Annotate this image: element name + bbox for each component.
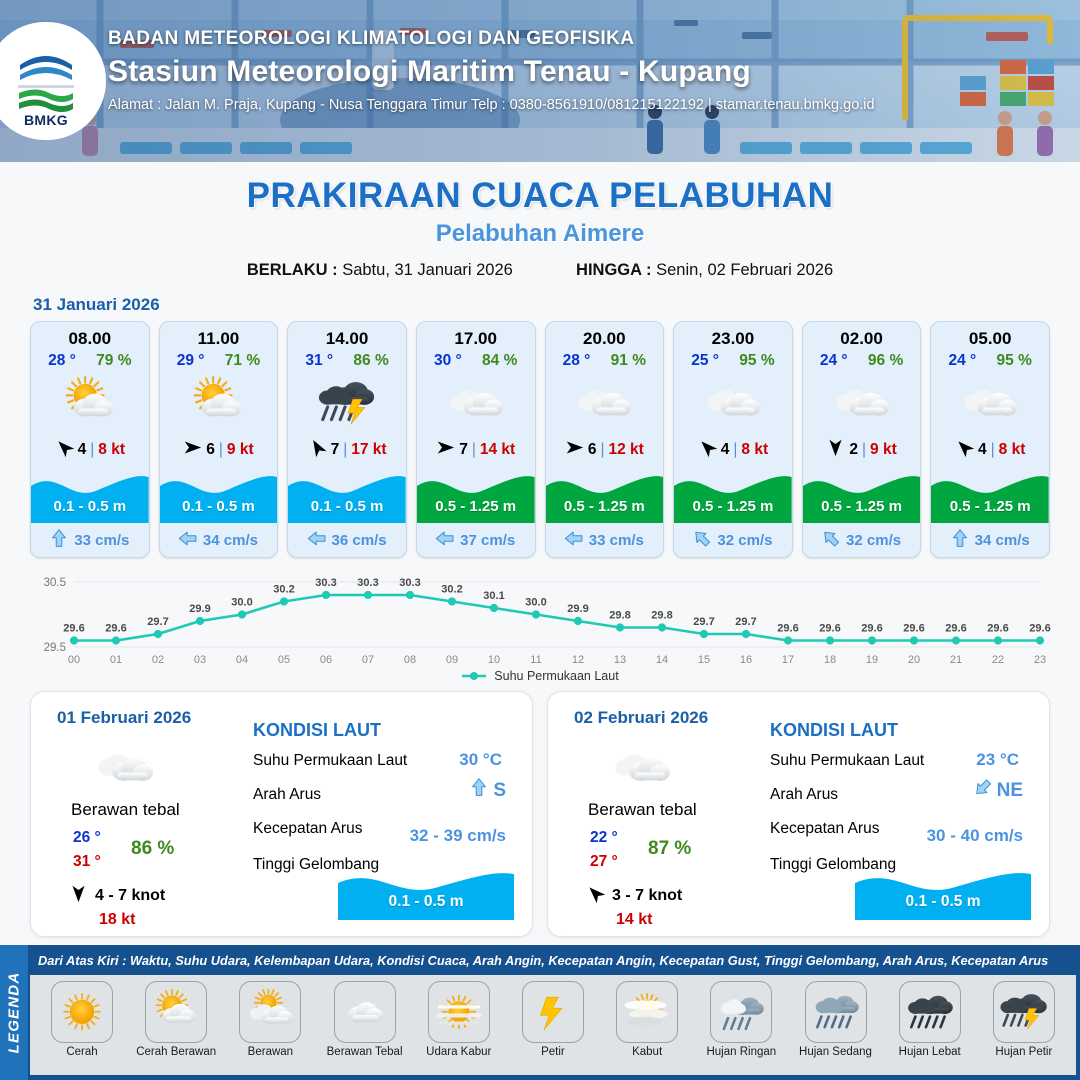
card-wave: 0.5 - 1.25 m — [674, 467, 792, 523]
valid-until-value: Senin, 02 Februari 2026 — [656, 261, 833, 279]
card-temperature: 28 ° — [563, 352, 591, 370]
card-wind-speed: 2 — [849, 441, 858, 459]
card-temp-humidity: 25 ° 95 % — [674, 351, 792, 370]
daily-date: 01 Februari 2026 — [57, 708, 191, 728]
sea-conditions-title: KONDISI LAUT — [770, 720, 898, 741]
daily-gust: 14 kt — [616, 911, 652, 929]
svg-text:29.6: 29.6 — [945, 623, 966, 635]
card-wave: 0.5 - 1.25 m — [803, 467, 921, 523]
cloudy-icon — [546, 372, 664, 434]
card-wind-speed: 4 — [721, 441, 730, 459]
cloudy-icon — [674, 372, 792, 434]
daily-wave-height: 0.1 - 0.5 m — [338, 893, 514, 911]
card-current-speed: 36 cm/s — [332, 532, 387, 549]
chart-series-label: Suhu Permukaan Laut — [494, 669, 618, 683]
current-direction-arrow-icon — [951, 529, 969, 552]
page-header: BMKG BADAN METEOROLOGI KLIMATOLOGI DAN G… — [0, 0, 1080, 162]
card-temperature: 31 ° — [305, 352, 333, 370]
legend-item: Udara Kabur — [413, 981, 505, 1058]
card-temperature: 29 ° — [177, 352, 205, 370]
sea-row-label-sst: Suhu Permukaan Laut — [770, 752, 924, 770]
svg-text:16: 16 — [740, 654, 752, 666]
card-wind-speed: 6 — [588, 441, 597, 459]
cloudy-icon — [417, 372, 535, 434]
daily-humidity: 86 % — [131, 838, 174, 860]
daily-condition: Berawan tebal — [71, 800, 180, 820]
card-wind-speed: 4 — [978, 441, 987, 459]
card-wave-height: 0.5 - 1.25 m — [417, 498, 535, 515]
svg-text:12: 12 — [572, 654, 584, 666]
card-current-speed: 34 cm/s — [203, 532, 258, 549]
svg-text:30.2: 30.2 — [273, 584, 294, 596]
cloudy-icon — [931, 372, 1049, 434]
svg-text:30.3: 30.3 — [399, 577, 420, 589]
card-current-speed: 32 cm/s — [717, 532, 772, 549]
svg-text:00: 00 — [68, 654, 80, 666]
card-wave-height: 0.5 - 1.25 m — [674, 498, 792, 515]
page-subtitle: Pelabuhan Aimere — [0, 220, 1080, 248]
daily-wave: 0.1 - 0.5 m — [338, 864, 514, 920]
card-temperature: 25 ° — [691, 352, 719, 370]
card-temp-humidity: 31 ° 86 % — [288, 351, 406, 370]
wind-direction-arrow-icon — [586, 884, 605, 908]
hourly-card: 05.00 24 ° 95 % — [930, 321, 1050, 558]
legend-item-label: Hujan Petir — [978, 1046, 1070, 1058]
svg-text:22: 22 — [992, 654, 1004, 666]
card-temperature: 24 ° — [949, 352, 977, 370]
sea-surface-temperature: 30 °C — [459, 750, 502, 770]
legend-line-marker-icon — [461, 670, 487, 682]
sea-row-label-current-direction: Arah Arus — [770, 786, 838, 804]
sea-row-label-current-speed: Kecepatan Arus — [253, 820, 362, 838]
current-direction-arrow-icon — [974, 778, 992, 803]
legend-item-label: Hujan Sedang — [790, 1046, 882, 1058]
card-humidity: 91 % — [611, 352, 646, 370]
card-wind: 7 | 17 kt — [288, 434, 406, 466]
card-wind: 6 | 12 kt — [546, 434, 664, 466]
sea-surface-temperature: 23 °C — [976, 750, 1019, 770]
card-wind-speed: 6 — [206, 441, 215, 459]
svg-text:21: 21 — [950, 654, 962, 666]
wind-direction-arrow-icon — [826, 438, 845, 462]
svg-text:04: 04 — [236, 654, 248, 666]
legend-item: Hujan Sedang — [790, 981, 882, 1058]
wind-direction-arrow-icon — [308, 438, 327, 462]
daily-wave-height: 0.1 - 0.5 m — [855, 893, 1031, 911]
card-current-speed: 34 cm/s — [975, 532, 1030, 549]
svg-text:30.2: 30.2 — [441, 584, 462, 596]
current-direction-arrow-icon — [436, 529, 454, 552]
card-humidity: 79 % — [96, 352, 131, 370]
logo-text: BMKG — [10, 112, 82, 128]
card-wind: 6 | 9 kt — [160, 434, 278, 466]
card-wind: 4 | 8 kt — [931, 434, 1049, 466]
wind-direction-arrow-icon — [436, 438, 455, 462]
legend-items: Cerah Cerah Berawan — [30, 975, 1076, 1075]
card-humidity: 71 % — [225, 352, 260, 370]
card-humidity: 95 % — [997, 352, 1032, 370]
card-gust: 9 kt — [870, 441, 897, 459]
card-current-speed: 33 cm/s — [74, 532, 129, 549]
card-current: 33 cm/s — [546, 523, 664, 557]
sea-current-speed: 30 - 40 cm/s — [927, 826, 1023, 846]
daily-wind-range: 4 - 7 knot — [95, 887, 165, 905]
agency-name: BADAN METEOROLOGI KLIMATOLOGI DAN GEOFIS… — [108, 28, 875, 50]
svg-text:30.3: 30.3 — [315, 577, 336, 589]
card-time: 08.00 — [31, 322, 149, 351]
card-temp-humidity: 29 ° 71 % — [160, 351, 278, 370]
legend-item-label: Udara Kabur — [413, 1046, 505, 1058]
svg-text:18: 18 — [824, 654, 836, 666]
svg-text:06: 06 — [320, 654, 332, 666]
current-direction-label: S — [493, 780, 506, 802]
hourly-card: 14.00 31 ° 86 % — [287, 321, 407, 558]
card-time: 02.00 — [803, 322, 921, 351]
svg-text:29.8: 29.8 — [651, 610, 672, 622]
svg-text:17: 17 — [782, 654, 794, 666]
current-direction-arrow-icon — [308, 529, 326, 552]
legend-item: Hujan Lebat — [884, 981, 976, 1058]
sun-behind-cloud-icon — [160, 372, 278, 434]
card-wave-height: 0.5 - 1.25 m — [931, 498, 1049, 515]
sea-row-label-current-direction: Arah Arus — [253, 786, 321, 804]
card-wind-speed: 4 — [78, 441, 87, 459]
svg-text:29.9: 29.9 — [567, 603, 588, 615]
card-wind-separator: | — [219, 441, 223, 459]
legend-item-label: Hujan Lebat — [884, 1046, 976, 1058]
card-gust: 8 kt — [999, 441, 1026, 459]
sst-chart: 29.530.529.60029.60129.70229.90330.00430… — [0, 572, 1080, 683]
card-wave-height: 0.5 - 1.25 m — [803, 498, 921, 515]
card-time: 17.00 — [417, 322, 535, 351]
sea-current-direction: S — [470, 778, 506, 803]
svg-text:07: 07 — [362, 654, 374, 666]
sea-conditions-title: KONDISI LAUT — [253, 720, 381, 741]
sst-chart-plot: 29.530.529.60029.60129.70229.90330.00430… — [26, 572, 1054, 667]
clouds-icon — [334, 981, 396, 1043]
legend-item-label: Hujan Ringan — [695, 1046, 787, 1058]
card-temp-humidity: 24 ° 96 % — [803, 351, 921, 370]
daily-wind-range: 3 - 7 knot — [612, 887, 682, 905]
sea-row-label-current-speed: Kecepatan Arus — [770, 820, 879, 838]
card-wind-separator: | — [991, 441, 995, 459]
svg-text:30.0: 30.0 — [525, 597, 546, 609]
svg-text:03: 03 — [194, 654, 206, 666]
current-direction-label: NE — [997, 780, 1023, 802]
legend-item: Cerah Berawan — [130, 981, 222, 1058]
legend-item: Hujan Petir — [978, 981, 1070, 1058]
card-temp-humidity: 28 ° 91 % — [546, 351, 664, 370]
legend-item-label: Berawan Tebal — [319, 1046, 411, 1058]
daily-temp-min: 22 ° — [590, 829, 618, 847]
svg-text:01: 01 — [110, 654, 122, 666]
card-wave: 0.5 - 1.25 m — [931, 467, 1049, 523]
svg-text:30.1: 30.1 — [483, 590, 504, 602]
card-wave: 0.1 - 0.5 m — [160, 467, 278, 523]
current-direction-arrow-icon — [179, 529, 197, 552]
legend-note: Dari Atas Kiri : Waktu, Suhu Udara, Kele… — [38, 953, 1074, 968]
card-temperature: 24 ° — [820, 352, 848, 370]
svg-text:29.6: 29.6 — [819, 623, 840, 635]
daily-date: 02 Februari 2026 — [574, 708, 708, 728]
card-wind-separator: | — [600, 441, 604, 459]
legend-item: Petir — [507, 981, 599, 1058]
card-wind-separator: | — [90, 441, 94, 459]
legend-item: Berawan Tebal — [319, 981, 411, 1058]
card-wind-separator: | — [733, 441, 737, 459]
card-current: 33 cm/s — [31, 523, 149, 557]
card-wave: 0.5 - 1.25 m — [417, 467, 535, 523]
legend-item-label: Kabut — [601, 1046, 693, 1058]
card-gust: 9 kt — [227, 441, 254, 459]
hourly-card: 20.00 28 ° 91 % — [545, 321, 665, 558]
card-time: 14.00 — [288, 322, 406, 351]
svg-text:30.5: 30.5 — [44, 577, 66, 589]
card-wave: 0.5 - 1.25 m — [546, 467, 664, 523]
svg-text:19: 19 — [866, 654, 878, 666]
svg-text:29.8: 29.8 — [609, 610, 630, 622]
station-address: Alamat : Jalan M. Praja, Kupang - Nusa T… — [108, 97, 875, 113]
sea-row-label-sst: Suhu Permukaan Laut — [253, 752, 407, 770]
legend-item: Cerah — [36, 981, 128, 1058]
svg-text:08: 08 — [404, 654, 416, 666]
card-wind-speed: 7 — [459, 441, 468, 459]
hourly-card: 23.00 25 ° 95 % — [673, 321, 793, 558]
card-temp-humidity: 28 ° 79 % — [31, 351, 149, 370]
card-gust: 12 kt — [608, 441, 643, 459]
legend-item: Hujan Ringan — [695, 981, 787, 1058]
card-wind-separator: | — [472, 441, 476, 459]
svg-text:11: 11 — [530, 654, 541, 666]
wind-direction-arrow-icon — [55, 438, 74, 462]
svg-text:29.7: 29.7 — [147, 616, 168, 628]
svg-text:29.6: 29.6 — [105, 623, 126, 635]
hourly-card: 11.00 29 ° 71 % 6 | — [159, 321, 279, 558]
daily-wind: 3 - 7 knot — [586, 884, 682, 908]
legend-item-label: Berawan — [224, 1046, 316, 1058]
card-current: 34 cm/s — [160, 523, 278, 557]
card-current: 34 cm/s — [931, 523, 1049, 557]
card-wave: 0.1 - 0.5 m — [288, 467, 406, 523]
card-humidity: 86 % — [353, 352, 388, 370]
card-time: 23.00 — [674, 322, 792, 351]
fog-icon — [616, 981, 678, 1043]
card-wave-height: 0.1 - 0.5 m — [31, 498, 149, 515]
daily-humidity: 87 % — [648, 838, 691, 860]
wind-direction-arrow-icon — [69, 884, 88, 908]
card-temp-humidity: 24 ° 95 % — [931, 351, 1049, 370]
hourly-card: 02.00 24 ° 96 % — [802, 321, 922, 558]
svg-text:29.7: 29.7 — [735, 616, 756, 628]
wind-direction-arrow-icon — [698, 438, 717, 462]
thunderstorm-icon — [993, 981, 1055, 1043]
current-direction-arrow-icon — [470, 778, 488, 803]
page-title: PRAKIRAAN CUACA PELABUHAN — [0, 176, 1080, 216]
hourly-card: 17.00 30 ° 84 % — [416, 321, 536, 558]
card-time: 05.00 — [931, 322, 1049, 351]
card-wave-height: 0.1 - 0.5 m — [160, 498, 278, 515]
valid-from-value: Sabtu, 31 Januari 2026 — [342, 261, 513, 279]
card-gust: 14 kt — [480, 441, 515, 459]
daily-wave: 0.1 - 0.5 m — [855, 864, 1031, 920]
svg-text:29.5: 29.5 — [44, 642, 66, 654]
valid-from-label: BERLAKU : — [247, 261, 338, 279]
svg-text:02: 02 — [152, 654, 164, 666]
wind-direction-arrow-icon — [565, 438, 584, 462]
svg-text:15: 15 — [698, 654, 710, 666]
hourly-card: 08.00 28 ° 79 % 4 | — [30, 321, 150, 558]
card-current-speed: 33 cm/s — [589, 532, 644, 549]
svg-text:30.0: 30.0 — [231, 597, 252, 609]
daily-forecast-row: 01 Februari 2026 Berawan tebal 26 ° 31 — [0, 683, 1080, 937]
card-wind: 4 | 8 kt — [674, 434, 792, 466]
svg-text:10: 10 — [488, 654, 500, 666]
heavy-rain-icon — [899, 981, 961, 1043]
sun-behind-cloud-icon — [145, 981, 207, 1043]
card-time: 11.00 — [160, 322, 278, 351]
card-wind: 2 | 9 kt — [803, 434, 921, 466]
light-rain-icon — [710, 981, 772, 1043]
sea-current-speed: 32 - 39 cm/s — [410, 826, 506, 846]
svg-text:09: 09 — [446, 654, 458, 666]
hourly-forecast-row: 08.00 28 ° 79 % 4 | — [0, 321, 1080, 558]
legend-side-title: LEGENDA — [0, 945, 28, 1080]
wind-direction-arrow-icon — [955, 438, 974, 462]
card-humidity: 95 % — [739, 352, 774, 370]
sun-behind-cloud-icon — [31, 372, 149, 434]
card-current: 32 cm/s — [674, 523, 792, 557]
validity-line: BERLAKU : Sabtu, 31 Januari 2026 HINGGA … — [0, 261, 1080, 280]
card-humidity: 96 % — [868, 352, 903, 370]
cloudy-icon — [803, 372, 921, 434]
daily-gust: 18 kt — [99, 911, 135, 929]
svg-text:29.6: 29.6 — [63, 623, 84, 635]
lightning-icon — [522, 981, 584, 1043]
card-current-speed: 37 cm/s — [460, 532, 515, 549]
daily-temp-max: 27 ° — [590, 853, 618, 871]
haze-icon — [428, 981, 490, 1043]
daily-forecast-panel: 01 Februari 2026 Berawan tebal 26 ° 31 — [30, 691, 533, 937]
forecast-date-label: 31 Januari 2026 — [33, 295, 1080, 315]
legend-item: Berawan — [224, 981, 316, 1058]
svg-text:13: 13 — [614, 654, 626, 666]
daily-forecast-panel: 02 Februari 2026 Berawan tebal 22 ° 27 — [547, 691, 1050, 937]
legend-item-label: Petir — [507, 1046, 599, 1058]
svg-text:29.9: 29.9 — [189, 603, 210, 615]
current-direction-arrow-icon — [565, 529, 583, 552]
svg-text:29.7: 29.7 — [693, 616, 714, 628]
card-wind: 7 | 14 kt — [417, 434, 535, 466]
card-temperature: 28 ° — [48, 352, 76, 370]
card-temp-humidity: 30 ° 84 % — [417, 351, 535, 370]
card-gust: 8 kt — [98, 441, 125, 459]
legend-item-label: Cerah — [36, 1046, 128, 1058]
card-wave-height: 0.5 - 1.25 m — [546, 498, 664, 515]
card-current: 32 cm/s — [803, 523, 921, 557]
wind-direction-arrow-icon — [183, 438, 202, 462]
station-name: Stasiun Meteorologi Maritim Tenau - Kupa… — [108, 55, 875, 89]
svg-text:14: 14 — [656, 654, 668, 666]
card-time: 20.00 — [546, 322, 664, 351]
card-wave: 0.1 - 0.5 m — [31, 467, 149, 523]
daily-wind: 4 - 7 knot — [69, 884, 165, 908]
legend-item: Kabut — [601, 981, 693, 1058]
sun-behind-clouds-icon — [239, 981, 301, 1043]
card-wind-separator: | — [862, 441, 866, 459]
card-temperature: 30 ° — [434, 352, 462, 370]
thunderstorm-icon — [288, 372, 406, 434]
card-current: 37 cm/s — [417, 523, 535, 557]
legend-bar: LEGENDA Dari Atas Kiri : Waktu, Suhu Uda… — [0, 945, 1080, 1080]
card-wave-height: 0.1 - 0.5 m — [288, 498, 406, 515]
card-gust: 17 kt — [351, 441, 386, 459]
current-direction-arrow-icon — [693, 529, 711, 552]
card-humidity: 84 % — [482, 352, 517, 370]
legend-item-label: Cerah Berawan — [130, 1046, 222, 1058]
sea-current-direction: NE — [974, 778, 1023, 803]
title-section: PRAKIRAAN CUACA PELABUHAN Pelabuhan Aime… — [0, 162, 1080, 280]
daily-temp-min: 26 ° — [73, 829, 101, 847]
svg-text:29.6: 29.6 — [987, 623, 1008, 635]
svg-text:05: 05 — [278, 654, 290, 666]
cloudy-icon — [93, 740, 157, 801]
chart-legend: Suhu Permukaan Laut — [26, 669, 1054, 683]
legend-side-text: LEGENDA — [6, 972, 23, 1054]
svg-text:29.6: 29.6 — [903, 623, 924, 635]
svg-text:20: 20 — [908, 654, 920, 666]
daily-condition: Berawan tebal — [588, 800, 697, 820]
svg-text:29.6: 29.6 — [861, 623, 882, 635]
card-wind: 4 | 8 kt — [31, 434, 149, 466]
current-direction-arrow-icon — [822, 529, 840, 552]
svg-text:23: 23 — [1034, 654, 1046, 666]
current-direction-arrow-icon — [50, 529, 68, 552]
daily-temp-max: 31 ° — [73, 853, 101, 871]
svg-text:29.6: 29.6 — [777, 623, 798, 635]
card-wind-separator: | — [343, 441, 347, 459]
moderate-rain-icon — [805, 981, 867, 1043]
cloudy-icon — [610, 740, 674, 801]
svg-text:29.6: 29.6 — [1029, 623, 1050, 635]
card-current-speed: 32 cm/s — [846, 532, 901, 549]
svg-text:30.3: 30.3 — [357, 577, 378, 589]
card-wind-speed: 7 — [331, 441, 340, 459]
sun-icon — [51, 981, 113, 1043]
card-current: 36 cm/s — [288, 523, 406, 557]
valid-until-label: HINGGA : — [576, 261, 651, 279]
card-gust: 8 kt — [741, 441, 768, 459]
